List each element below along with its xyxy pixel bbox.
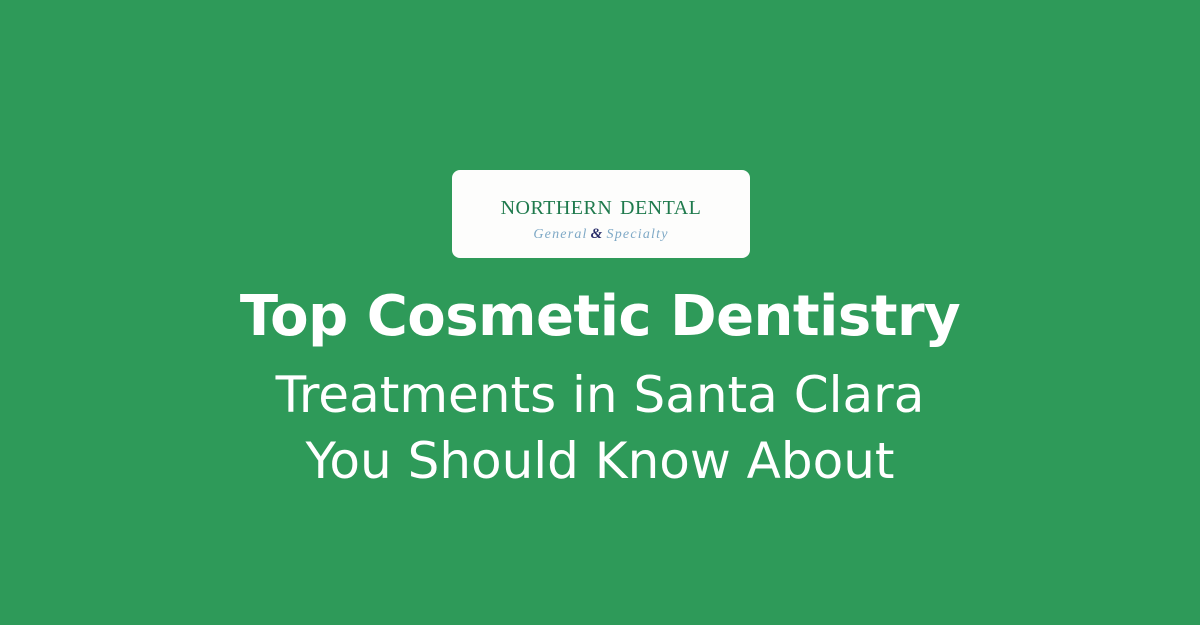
logo-tagline: General&Specialty <box>533 227 668 242</box>
logo-wordmark: Northern Dental <box>501 191 702 220</box>
logo-card: Northern Dental General&Specialty <box>452 170 750 258</box>
headline-line-1: Top Cosmetic Dentistry <box>40 283 1160 351</box>
headline-line-2: Treatments in Santa Clara <box>40 363 1160 427</box>
headline-line-3: You Should Know About <box>40 429 1160 493</box>
logo-tagline-left: General <box>533 227 587 242</box>
promo-banner: Northern Dental General&Specialty Top Co… <box>0 0 1200 625</box>
logo-tagline-right: Specialty <box>607 227 669 242</box>
logo-tagline-ampersand: & <box>588 226 607 242</box>
headline-block: Top Cosmetic Dentistry Treatments in San… <box>0 283 1200 493</box>
